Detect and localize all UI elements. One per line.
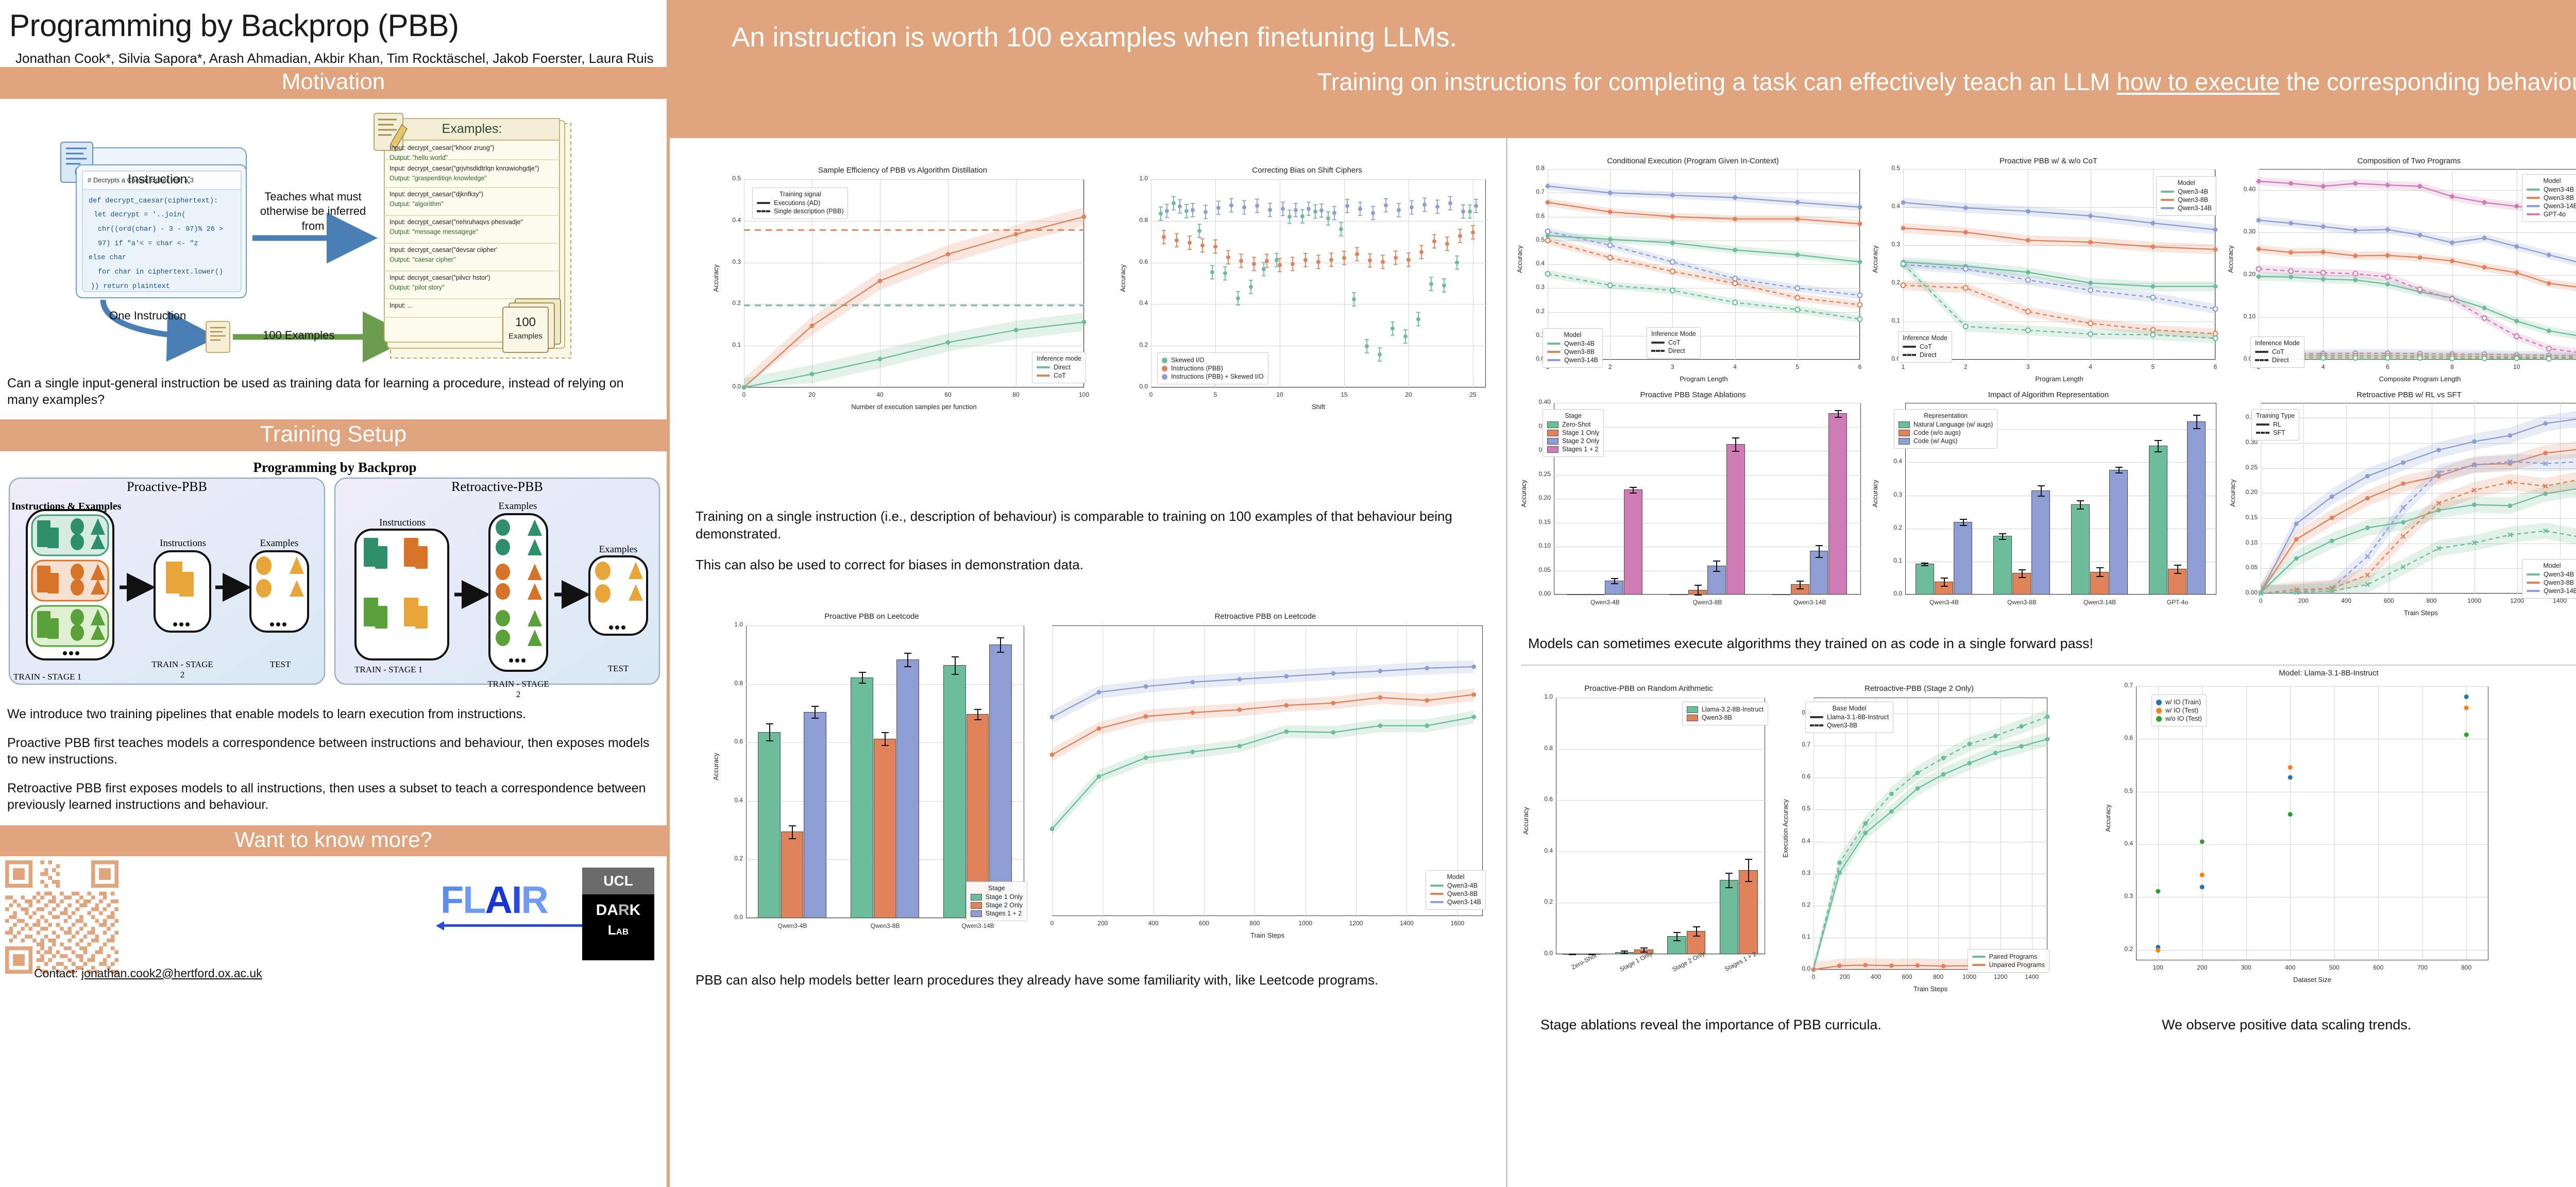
y-axis-tick: 1.0 — [720, 621, 743, 628]
legend-item[interactable]: Qwen3-8B — [1430, 890, 1481, 897]
code-line: else char — [89, 251, 241, 265]
legend-title: Representation — [1899, 412, 1993, 419]
y-axis-tick: 0.6 — [720, 738, 743, 745]
legend-item[interactable]: CoT — [1903, 343, 1947, 350]
error-bar — [2080, 500, 2081, 508]
legend-item[interactable]: Instructions (PBB) — [1162, 365, 1264, 372]
error-bar-cap — [974, 719, 981, 720]
legend-label: Qwen3-14B — [1564, 357, 1598, 364]
chart-legend[interactable]: ModelQwen3-4BQwen3-8BQwen3-14BGPT-4o — [2522, 174, 2576, 222]
error-bar-cap — [2115, 472, 2123, 473]
chart-random-arithmetic: Proactive-PBB on Random Arithmetic0.00.2… — [1525, 684, 1772, 998]
y-axis-tick: 0.2 — [720, 855, 743, 862]
legend-item[interactable]: Executions (AD) — [757, 199, 843, 207]
right-caption-2: Stage ablations reveal the importance of… — [1522, 1014, 1882, 1033]
legend-label: Unpaired Programs — [1989, 961, 2045, 969]
error-bar-cap — [859, 683, 866, 684]
series-layer — [1039, 612, 1492, 942]
legend-swatch — [1162, 358, 1167, 363]
proactive-panel-title: Proactive-PBB — [9, 479, 325, 495]
flair-letter-f: F — [440, 878, 463, 921]
error-bar-cap — [1693, 936, 1700, 937]
retroactive-box2-label: Examples — [487, 501, 548, 512]
legend-swatch — [971, 902, 982, 909]
legend-item[interactable]: Direct — [1903, 351, 1947, 359]
contact-email-link[interactable]: jonathan.cook2@hertford.ox.ac.uk — [81, 966, 262, 980]
teaches-arrow-label: Teaches what must otherwise be inferred … — [258, 190, 368, 234]
legend-item[interactable]: Qwen3-8B — [1810, 722, 1889, 729]
legend-item[interactable]: Skewed I/O — [1162, 357, 1264, 364]
legend-item[interactable]: Direct — [1037, 364, 1081, 371]
legend-label: w/ IO (Train) — [2165, 699, 2201, 706]
bar — [1772, 594, 1790, 595]
flair-letter-i: I — [512, 878, 521, 921]
legend-item[interactable]: Paired Programs — [1972, 953, 2045, 960]
error-bar — [1000, 637, 1001, 652]
error-bar-cap — [766, 723, 773, 724]
legend-item[interactable]: w/o IO (Test) — [2156, 715, 2202, 722]
legend-swatch — [1972, 956, 1986, 958]
legend-item[interactable]: Stages 1 + 2 — [971, 910, 1023, 917]
x-axis-tick: Qwen3-14B — [1774, 599, 1846, 606]
legend-item[interactable]: Qwen3-8B — [1687, 714, 1764, 721]
error-bar-cap — [952, 674, 959, 675]
legend-label: Qwen3-8B — [2544, 194, 2574, 201]
y-axis-tick: 0.0 — [1879, 590, 1902, 597]
bar — [896, 659, 919, 918]
bar — [1993, 536, 2012, 595]
error-bar — [885, 732, 886, 745]
legend-title: Training Type — [2256, 412, 2295, 419]
chart-legend[interactable]: Inference ModeCoTDirect — [1647, 327, 1701, 359]
motivation-caption: Can a single input-general instruction b… — [0, 372, 667, 408]
code-line: for char in ciphertext.lower() — [89, 265, 241, 280]
y-axis-tick: 0.00 — [1528, 590, 1551, 597]
legend-item[interactable]: Stage 1 Only — [1547, 429, 1599, 436]
y-axis-label: Accuracy — [1522, 790, 1530, 852]
legend-item[interactable]: Qwen3-8B — [1547, 348, 1598, 355]
bar — [2031, 490, 2050, 595]
legend-label: Skewed I/O — [1171, 357, 1205, 364]
legend-item[interactable]: Qwen3-14B — [1547, 357, 1598, 364]
bar — [1726, 444, 1745, 595]
code-line: chr((ord(char) - 3 - 97)% 26 > — [89, 223, 241, 237]
legend-label: CoT — [1054, 372, 1066, 379]
chart-legend[interactable]: Training signalExecutions (AD)Single des… — [752, 188, 848, 219]
instruction-code-comment: # Decrypts a Caesar cipher with a 3 — [88, 176, 237, 184]
legend-item[interactable]: Stage 1 Only — [971, 893, 1023, 901]
training-setup-paragraphs: We introduce two training pipelines that… — [0, 699, 667, 813]
chart-sample-efficiency: Sample Efficiency of PBB vs Algorithm Di… — [712, 166, 1093, 413]
error-bar-cap — [1640, 947, 1648, 948]
legend-item[interactable]: Qwen3-14B — [1430, 898, 1481, 906]
gridline — [1554, 523, 1861, 523]
gridline — [1554, 499, 1861, 499]
error-bar-cap — [1999, 533, 2006, 534]
legend-title: Model — [2161, 179, 2212, 186]
chart-title: Proactive-PBB on Random Arithmetic — [1525, 684, 1772, 693]
error-bar-cap — [1694, 595, 1702, 596]
one-instruction-label: One Instruction — [109, 309, 186, 323]
legend-label: Executions (AD) — [774, 199, 820, 207]
right-column: Conditional Execution (Program Given In-… — [1510, 138, 2576, 1187]
error-bar-cap — [997, 637, 1004, 638]
error-bar — [1676, 932, 1677, 940]
legend-label: Paired Programs — [1989, 953, 2038, 960]
error-bar-cap — [2193, 415, 2200, 416]
flair-letter-r: R — [521, 878, 547, 921]
legend-item[interactable]: w/ IO (Test) — [2156, 707, 2202, 714]
error-bar-cap — [1673, 940, 1681, 941]
example-row: Input: decrypt_caesar("pilvcr hstor') Ou… — [389, 271, 557, 299]
legend-label: Direct — [2272, 357, 2289, 364]
legend-swatch — [2527, 590, 2540, 592]
middle-caption-bottom: PBB can also help models better learn pr… — [673, 962, 1507, 1003]
legend-swatch — [1037, 366, 1050, 368]
poster-root: Programming by Backprop (PBB) Jonathan C… — [0, 0, 2576, 1187]
bar — [1720, 880, 1739, 954]
legend-label: Stages 1 + 2 — [986, 910, 1022, 917]
error-bar-cap — [1732, 437, 1739, 438]
error-bar-cap — [766, 740, 773, 741]
legend-swatch — [1162, 366, 1167, 371]
chart-legend[interactable]: Paired ProgramsUnpaired Programs — [1968, 949, 2049, 973]
legend-label: Stage 2 Only — [1562, 437, 1599, 445]
legend-swatch — [1899, 430, 1910, 436]
flair-underline — [439, 924, 594, 927]
proactive-box3-label: Examples — [248, 538, 310, 549]
error-bar-cap — [904, 653, 911, 654]
legend-item[interactable]: Stages 1 + 2 — [1547, 446, 1599, 453]
chart-legend[interactable]: Llama-3.2-8B-InstructQwen3-8B — [1682, 702, 1768, 725]
error-bar-cap — [2096, 567, 2104, 568]
error-bar-cap — [1621, 953, 1628, 954]
caption: Training on a single instruction (i.e., … — [696, 508, 1494, 543]
legend-label: Zero-Shot — [1562, 421, 1591, 428]
legend-item[interactable]: Code (w/ Augs) — [1899, 437, 1993, 445]
retroactive-panel-title: Retroactive-PBB — [335, 479, 659, 495]
legend-item[interactable]: Stage 2 Only — [971, 902, 1023, 909]
legend-item[interactable]: w/ IO (Train) — [2156, 699, 2202, 706]
y-axis-tick: 0.2 — [1879, 524, 1902, 531]
legend-item[interactable]: Direct — [1651, 347, 1696, 354]
error-bar-cap — [1611, 578, 1618, 579]
legend-item[interactable]: Qwen3-4B — [2161, 188, 2212, 195]
error-bar — [2177, 565, 2178, 572]
legend-swatch — [2156, 708, 2162, 714]
legend-label: Direct — [1054, 364, 1071, 371]
x-axis-tick: Qwen3-14B — [942, 922, 1014, 929]
legend-swatch — [1430, 893, 1444, 895]
error-bar — [1748, 859, 1749, 881]
chart-retroactive-leetcode: Retroactive PBB on Leetcode0200400600800… — [1039, 612, 1492, 942]
x-axis-tick: Qwen3-8B — [849, 922, 921, 929]
legend-item[interactable]: CoT — [1037, 372, 1081, 379]
headline-primary: An instruction is worth 100 examples whe… — [732, 22, 1457, 53]
legend-label: CoT — [2272, 348, 2284, 355]
legend-swatch — [2161, 191, 2174, 193]
legend-item[interactable]: Direct — [2255, 357, 2300, 364]
legend-item[interactable]: Instructions (PBB) + Skewed I/O — [1162, 373, 1264, 380]
error-bar — [1819, 545, 1820, 556]
legend-swatch — [2527, 573, 2540, 575]
legend-swatch — [2527, 189, 2540, 191]
legend-item[interactable]: Unpaired Programs — [1972, 961, 2045, 969]
legend-item[interactable]: Stage 2 Only — [1547, 437, 1599, 445]
error-bar — [1698, 585, 1699, 595]
y-axis-tick: 0.2 — [1530, 898, 1553, 905]
gridline — [1905, 529, 2216, 529]
legend-item[interactable]: Qwen3-14B — [2161, 205, 2212, 212]
gridline — [1905, 562, 2216, 562]
x-axis-tick: Qwen3-4B — [756, 922, 828, 929]
legend-swatch — [2156, 700, 2162, 705]
training-setup-figure: Programming by Backprop — [0, 451, 670, 699]
chart-legend[interactable]: Inference ModeCoTDirect — [2250, 336, 2304, 368]
error-bar-cap — [1569, 954, 1576, 955]
bar — [2187, 421, 2206, 595]
legend-item[interactable]: CoT — [1651, 339, 1696, 346]
error-bar-cap — [1693, 926, 1700, 927]
examples-badge-label: Examples — [503, 332, 548, 341]
bar — [1954, 522, 1972, 595]
legend-title: Inference Mode — [2255, 340, 2300, 347]
legend-label: Stage 2 Only — [986, 902, 1023, 909]
legend-label: Qwen3-4B — [2178, 188, 2208, 195]
proactive-stage1-label: TRAIN - STAGE 1 — [13, 672, 81, 682]
code-line: 97) if "a'< = char <- "z — [89, 237, 241, 251]
example-row: Input: ... — [389, 299, 557, 311]
error-bar-cap — [1745, 881, 1752, 882]
ucl-logo-dark: DARK — [582, 894, 654, 919]
legend-title: Stage — [971, 885, 1023, 892]
error-bar-cap — [2077, 500, 2084, 501]
bar — [1669, 594, 1688, 595]
legend-item[interactable]: Qwen3-14B — [2527, 202, 2576, 210]
chart-legend[interactable]: ModelQwen3-4BQwen3-8BQwen3-14B — [1426, 870, 1486, 910]
legend-item[interactable]: Qwen3-4B — [1547, 340, 1598, 347]
error-bar — [1696, 926, 1697, 936]
legend-item[interactable]: Qwen3-4B — [2527, 186, 2576, 193]
chart-algorithm-representation: Impact of Algorithm Representation0.00.1… — [1873, 391, 2224, 617]
error-bar-cap — [859, 672, 866, 673]
caption: This can also be used to correct for bia… — [696, 556, 1494, 574]
chart-legend[interactable]: RepresentationNatural Language (w/ augs)… — [1894, 409, 1997, 449]
legend-title: Model — [1430, 873, 1481, 880]
chart-legend[interactable]: Inference ModeCoTDirect — [1898, 331, 1952, 363]
chart-legend[interactable]: Skewed I/OInstructions (PBB)Instructions… — [1157, 352, 1268, 384]
section-header-training-setup: Training Setup — [0, 419, 667, 451]
chart-proactive-cot: Proactive PBB w/ & w/o CoT0.00.10.20.30.… — [1873, 157, 2224, 383]
legend-item[interactable]: GPT-4o — [2527, 211, 2576, 218]
legend-swatch — [971, 910, 982, 917]
error-bar-cap — [1732, 451, 1739, 452]
gridline — [1554, 547, 1861, 547]
y-axis-label: Accuracy — [1520, 463, 1528, 524]
chart-title: Proactive PBB on Leetcode — [712, 612, 1031, 621]
y-axis-tick: 0.6 — [1530, 795, 1553, 803]
legend-swatch — [971, 894, 982, 901]
retroactive-box1-label: Instructions — [359, 517, 446, 529]
legend-label: Qwen3-14B — [2544, 202, 2576, 210]
legend-item[interactable]: Llama-3.1-8B-Instruct — [1810, 714, 1889, 721]
error-bar-cap — [882, 745, 889, 746]
y-axis-tick: 0.15 — [1528, 518, 1551, 525]
legend-item[interactable]: Natural Language (w/ augs) — [1899, 421, 1993, 428]
legend-item[interactable]: Qwen3-8B — [2527, 579, 2576, 586]
legend-label: Qwen3-14B — [2178, 205, 2212, 212]
legend-label: CoT — [1668, 339, 1681, 346]
legend-label: Llama-3.2-8B-Instruct — [1702, 706, 1764, 713]
chart-shift-ciphers: Correcting Bias on Shift Ciphers0.00.20.… — [1119, 166, 1495, 413]
proactive-test-label: TEST — [249, 659, 311, 670]
legend-item[interactable]: Qwen3-8B — [2527, 194, 2576, 201]
section-header-motivation: Motivation — [0, 67, 667, 99]
legend-item[interactable]: Qwen3-4B — [1430, 882, 1481, 889]
x-axis-tick: Qwen3-4B — [1569, 599, 1641, 606]
x-axis-tick: Qwen3-14B — [2064, 599, 2136, 606]
gridline — [1556, 749, 1765, 750]
bar — [943, 665, 965, 918]
legend-item[interactable]: Code (w/o augs) — [1899, 429, 1993, 436]
paragraph: We introduce two training pipelines that… — [7, 706, 653, 722]
error-bar — [862, 672, 863, 682]
legend-label: Code (w/ Augs) — [1913, 437, 1957, 445]
headline-emphasis: how to execute — [2117, 68, 2280, 95]
chart-legend[interactable]: ModelQwen3-4BQwen3-8BQwen3-14B — [1543, 328, 1603, 368]
error-bar-cap — [1816, 557, 1823, 558]
caption: PBB can also help models better learn pr… — [696, 972, 1494, 989]
flair-logo[interactable]: FLAIR — [440, 878, 548, 922]
proactive-stage2-label: TRAIN - STAGE 2 — [150, 659, 214, 680]
chart-legend[interactable]: Base ModelLlama-3.1-8B-InstructQwen3-8B — [1805, 702, 1893, 733]
error-bar-cap — [1713, 561, 1720, 562]
chart-legend[interactable]: ModelQwen3-4BQwen3-8BQwen3-14B — [2522, 559, 2576, 599]
error-bar-cap — [1797, 581, 1804, 582]
legend-swatch — [1547, 351, 1561, 353]
legend-item[interactable]: Qwen3-8B — [2161, 196, 2212, 204]
error-bar-cap — [882, 732, 889, 733]
error-bar — [977, 709, 978, 719]
error-bar — [2022, 569, 2023, 577]
error-bar-cap — [1713, 571, 1720, 572]
error-bar — [1735, 437, 1736, 451]
error-bar — [2158, 440, 2159, 451]
legend-label: Qwen3-8B — [1564, 348, 1595, 355]
bar — [781, 832, 803, 918]
legend-item[interactable]: Single description (PBB) — [757, 208, 843, 215]
legend-label: Natural Language (w/ augs) — [1913, 421, 1993, 428]
chart-title: Impact of Algorithm Representation — [1873, 391, 2224, 399]
legend-title: Inference Mode — [1903, 334, 1947, 342]
error-bar-cap — [1816, 545, 1823, 546]
legend-label: Instructions (PBB) — [1171, 365, 1223, 372]
legend-swatch — [1547, 421, 1558, 428]
legend-label: Direct — [1668, 347, 1685, 354]
chart-data-scaling: Model: Llama-3.1-8B-Instruct0.20.30.40.5… — [2102, 669, 2555, 993]
bar — [2071, 504, 2090, 595]
legend-label: Qwen3-8B — [2544, 579, 2574, 586]
chart-legend[interactable]: Training TypeRLSFT — [2251, 409, 2299, 440]
error-bar-cap — [1921, 565, 1928, 566]
y-axis-label: Accuracy — [712, 736, 720, 798]
error-bar — [2041, 485, 2042, 495]
error-bar-cap — [2038, 496, 2045, 497]
qr-code[interactable] — [5, 860, 118, 974]
bar — [1586, 594, 1605, 595]
code-line: def decrypt_caesar(ciphertext): — [89, 194, 241, 209]
chart-legend[interactable]: Inference modeDirectCoT — [1032, 352, 1086, 383]
flair-letter-l: L — [463, 878, 485, 921]
legend-swatch — [2255, 359, 2268, 361]
error-bar — [907, 653, 908, 666]
legend-swatch — [2527, 213, 2540, 215]
legend-item[interactable]: Llama-3.2-8B-Instruct — [1687, 706, 1764, 713]
error-bar-cap — [2019, 569, 2026, 570]
legend-label: Qwen3-8B — [1827, 722, 1857, 729]
legend-item[interactable]: CoT — [2255, 348, 2300, 355]
chart-legend[interactable]: StageStage 1 OnlyStage 2 OnlyStages 1 + … — [966, 881, 1027, 921]
left-column: Programming by Backprop (PBB) Jonathan C… — [0, 0, 670, 1187]
legend-item[interactable]: Qwen3-14B — [2527, 587, 2576, 595]
legend-swatch — [1903, 346, 1916, 348]
error-bar-cap — [1630, 493, 1637, 494]
error-bar-cap — [1797, 588, 1804, 589]
legend-swatch — [757, 202, 770, 204]
error-bar-cap — [1960, 525, 1967, 526]
legend-swatch — [2256, 423, 2269, 426]
legend-swatch — [2527, 205, 2540, 207]
legend-label: Stages 1 + 2 — [1562, 446, 1599, 453]
chart-legend[interactable]: StageZero-ShotStage 1 OnlyStage 2 OnlySt… — [1543, 409, 1604, 457]
x-axis-tick: Qwen3-4B — [1908, 599, 1980, 606]
legend-label: Instructions (PBB) + Skewed I/O — [1171, 373, 1264, 380]
legend-item[interactable]: SFT — [2256, 429, 2295, 436]
error-bar-cap — [997, 652, 1004, 653]
legend-swatch — [1037, 375, 1050, 377]
chart-legend[interactable]: w/ IO (Train)w/ IO (Test)w/o IO (Test) — [2151, 694, 2207, 726]
error-bar — [2196, 415, 2197, 428]
legend-label: SFT — [2273, 429, 2285, 436]
legend-title: Base Model — [1810, 705, 1889, 712]
ucl-dark-lab-logo[interactable]: UCL DARK LAB — [582, 868, 654, 960]
y-axis-tick: 0.3 — [1879, 491, 1902, 498]
error-bar-cap — [974, 709, 981, 710]
headline-secondary: Training on instructions for completing … — [732, 67, 2576, 96]
legend-swatch — [2255, 351, 2268, 353]
legend-item[interactable]: RL — [2256, 421, 2295, 428]
header-banner: An instruction is worth 100 examples whe… — [670, 0, 2576, 138]
y-axis-tick: 1.0 — [1530, 693, 1553, 700]
legend-swatch — [1810, 724, 1823, 726]
legend-item[interactable]: Zero-Shot — [1547, 421, 1599, 428]
chart-legend[interactable]: ModelQwen3-4BQwen3-8BQwen3-14B — [2156, 176, 2216, 216]
legend-swatch — [1651, 350, 1665, 352]
legend-swatch — [1810, 716, 1823, 718]
error-bar-cap — [1941, 586, 1948, 587]
legend-swatch — [2256, 432, 2269, 434]
legend-label: w/ IO (Test) — [2165, 707, 2198, 714]
legend-label: Code (w/o augs) — [1913, 429, 1961, 436]
error-bar-cap — [2155, 451, 2162, 452]
legend-swatch — [2161, 207, 2174, 209]
legend-item[interactable]: Qwen3-4B — [2527, 571, 2576, 578]
code-line: let decrypt = '..join( — [89, 208, 241, 223]
legend-label: Qwen3-14B — [2544, 587, 2576, 595]
author-list: Jonathan Cook*, Silvia Sapora*, Arash Ah… — [0, 42, 667, 67]
error-bar-cap — [2174, 573, 2181, 574]
y-axis-tick: 0.25 — [1528, 470, 1551, 478]
